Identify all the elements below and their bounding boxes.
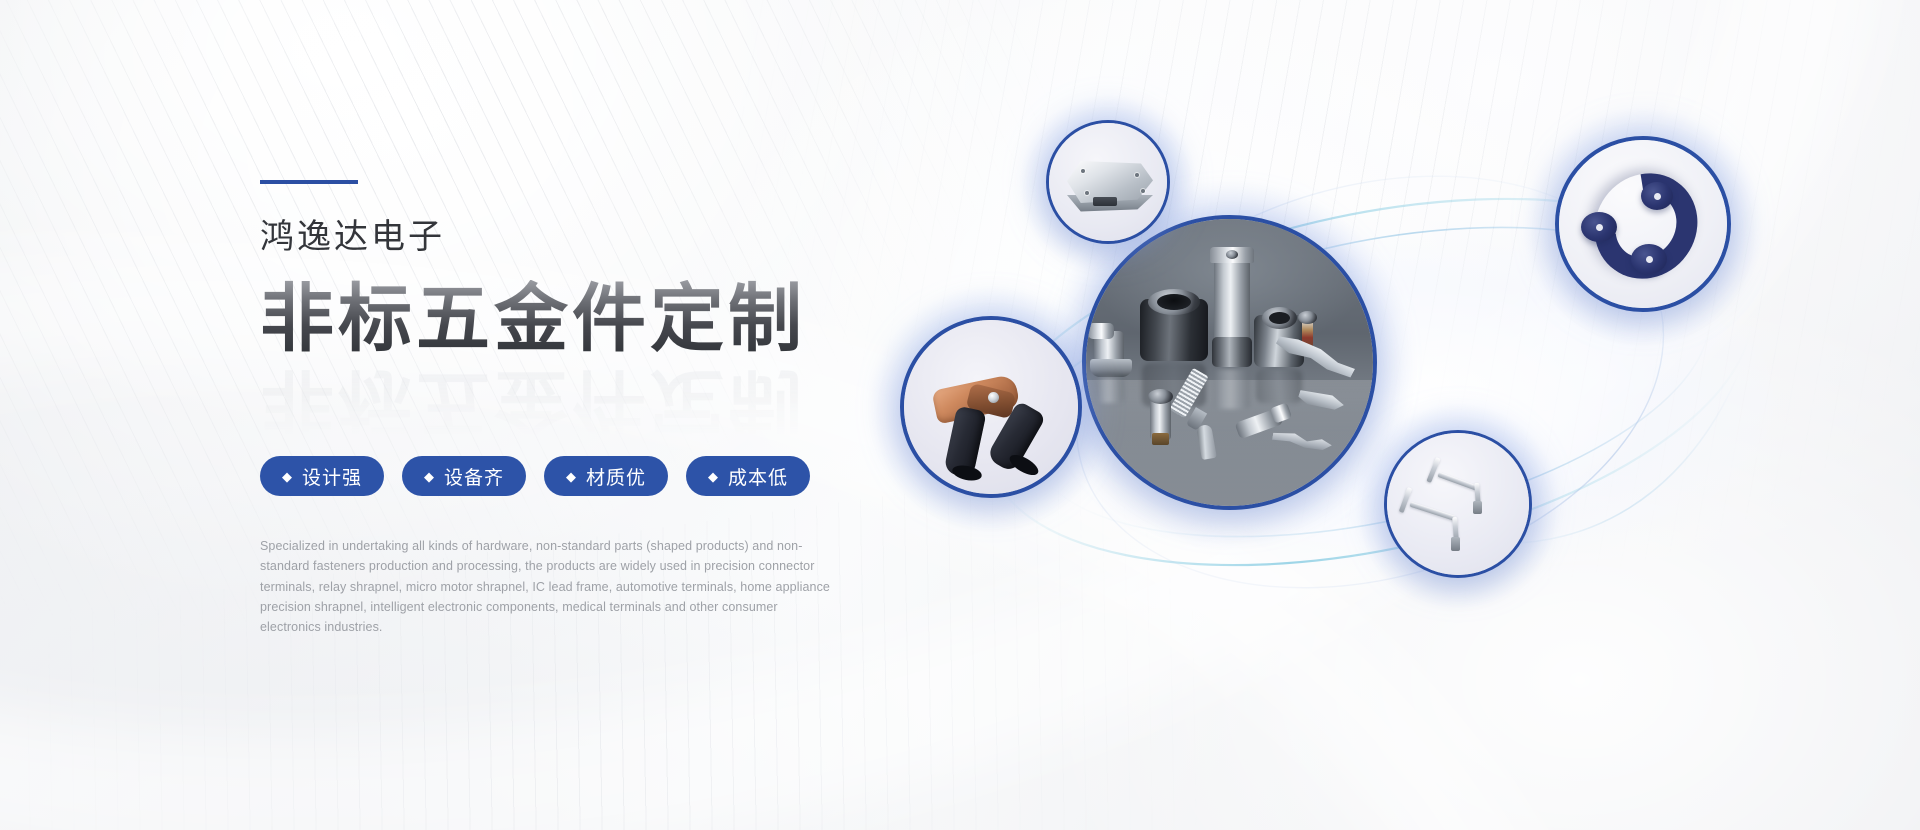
part-bronze-pin-head bbox=[1298, 311, 1317, 324]
shield-box-screw bbox=[1141, 189, 1145, 193]
feature-pill-equipment[interactable]: ◆ 设备齐 bbox=[402, 456, 526, 496]
brand-name: 鸿逸达电子 bbox=[260, 220, 900, 254]
hero-copy-column: 鸿逸达电子 非标五金件定制 非标五金件定制 ◆ 设计强 ◆ 设备齐 ◆ 材质优 … bbox=[260, 180, 900, 637]
hardware-parts-scene bbox=[1086, 219, 1373, 506]
part-small-connector-tip bbox=[1088, 323, 1114, 339]
shield-box-screw bbox=[1135, 173, 1139, 177]
feature-pill-design[interactable]: ◆ 设计强 bbox=[260, 456, 384, 496]
retaining-clip-scene bbox=[1559, 140, 1727, 308]
feature-pill-label: 材质优 bbox=[586, 463, 646, 490]
shield-box-connector bbox=[1093, 197, 1117, 206]
feature-pill-label: 设备齐 bbox=[444, 463, 504, 490]
part-bushing-bore-inner bbox=[1157, 294, 1191, 310]
part-cap-bore bbox=[1226, 250, 1238, 259]
page-title-reflection: 非标五金件定制 bbox=[260, 364, 806, 442]
shield-box-scene bbox=[1049, 123, 1167, 241]
hero-banner: 鸿逸达电子 非标五金件定制 非标五金件定制 ◆ 设计强 ◆ 设备齐 ◆ 材质优 … bbox=[0, 0, 1920, 830]
clip-lug-left bbox=[1581, 212, 1617, 242]
part-tall-cylinder-reflection bbox=[1214, 369, 1250, 409]
part-hollow-stub-foot bbox=[1152, 433, 1169, 445]
shield-box-screw bbox=[1085, 191, 1089, 195]
shield-box-screw bbox=[1081, 169, 1085, 173]
headline-block: 非标五金件定制 非标五金件定制 bbox=[260, 280, 900, 432]
clamp-handle-right-tip bbox=[1007, 451, 1042, 479]
product-bubble-battery-clamp[interactable] bbox=[900, 316, 1082, 498]
part-socket-reflection bbox=[1256, 369, 1302, 403]
part-cylinder-base bbox=[1212, 337, 1252, 367]
bent-terminals-scene bbox=[1387, 433, 1529, 575]
product-visual bbox=[900, 120, 1910, 660]
feature-pill-list: ◆ 设计强 ◆ 设备齐 ◆ 材质优 ◆ 成本低 bbox=[260, 456, 900, 496]
accent-rule bbox=[260, 180, 358, 184]
battery-clamp-scene bbox=[904, 320, 1078, 494]
feature-pill-label: 设计强 bbox=[302, 463, 362, 490]
part-small-connector-reflection bbox=[1096, 377, 1124, 403]
diamond-icon: ◆ bbox=[282, 470, 293, 483]
diamond-icon: ◆ bbox=[566, 470, 577, 483]
product-bubble-hardware-parts[interactable] bbox=[1082, 215, 1377, 510]
feature-pill-cost[interactable]: ◆ 成本低 bbox=[686, 456, 810, 496]
company-description: Specialized in undertaking all kinds of … bbox=[260, 536, 835, 637]
clip-lug-top bbox=[1641, 182, 1673, 210]
part-socket-bore-inner bbox=[1269, 312, 1290, 324]
diamond-icon: ◆ bbox=[424, 470, 435, 483]
part-hollow-stub-bore bbox=[1148, 389, 1173, 404]
diamond-icon: ◆ bbox=[708, 470, 719, 483]
page-title: 非标五金件定制 bbox=[260, 280, 806, 358]
clip-lug-bottom bbox=[1631, 244, 1667, 274]
product-bubble-retaining-clip[interactable] bbox=[1555, 136, 1731, 312]
part-small-connector-flange bbox=[1090, 359, 1132, 377]
feature-pill-label: 成本低 bbox=[728, 463, 788, 490]
clamp-handle-left-tip bbox=[951, 463, 983, 483]
product-bubble-bent-terminals[interactable] bbox=[1384, 430, 1532, 578]
feature-pill-material[interactable]: ◆ 材质优 bbox=[544, 456, 668, 496]
product-bubble-shield-box[interactable] bbox=[1046, 120, 1170, 244]
clamp-pivot-pin bbox=[988, 392, 999, 403]
